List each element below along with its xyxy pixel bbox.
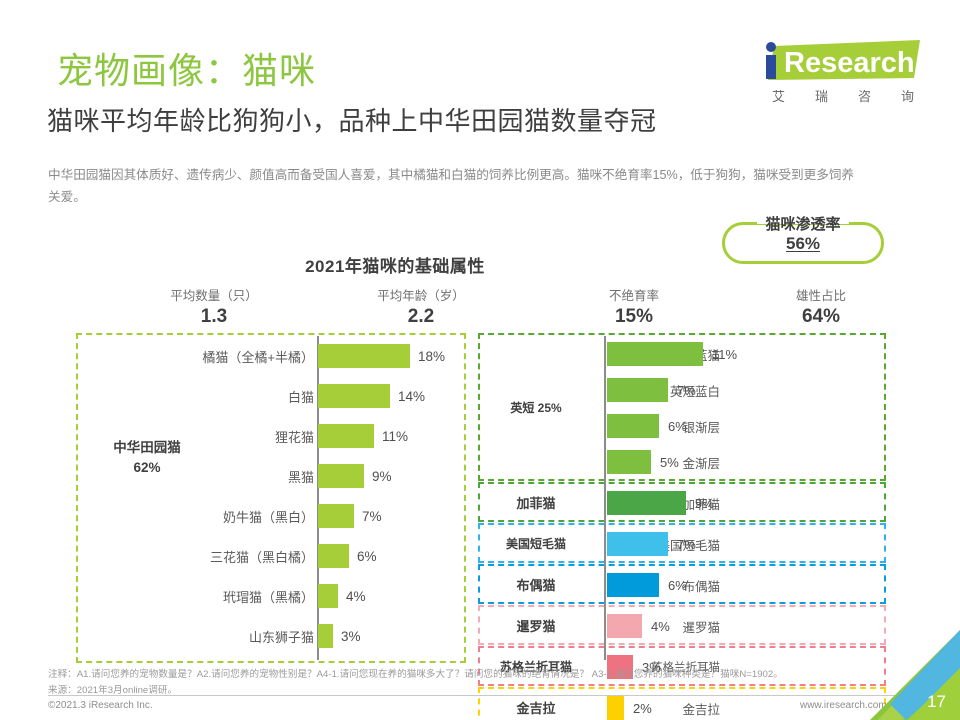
left-bar-label: 橘猫（全橘+半橘） (78, 336, 314, 376)
right-bar-value: 11% (712, 336, 737, 372)
right-group: 暹罗猫暹罗猫4% (478, 605, 886, 645)
right-bar-row: 暹罗猫4% (480, 608, 888, 644)
right-group: 美国短毛猫美国短毛猫7% (478, 523, 886, 563)
right-chart-panel: 英短 25%英短蓝猫11%英短蓝白7%银渐层6%金渐层5%加菲猫加菲猫9%美国短… (478, 333, 886, 663)
right-bar-value: 7% (677, 526, 696, 562)
left-bar-row: 玳瑁猫（黑橘）4% (78, 576, 466, 616)
footer-divider (48, 695, 913, 696)
left-bar-value: 9% (372, 456, 392, 496)
left-bar-label: 三花猫（黑白橘） (78, 536, 314, 576)
right-bar (607, 342, 703, 366)
right-bar-row: 美国短毛猫7% (480, 526, 888, 562)
left-bar-row: 奶牛猫（黑白）7% (78, 496, 466, 536)
logo-mark: Research (760, 36, 920, 84)
right-bar (607, 696, 624, 720)
right-bar (607, 414, 659, 438)
stats-row: 平均数量（只）1.3平均年龄（岁）2.2不绝育率15%雄性占比64% (78, 288, 908, 332)
logo-sub-char-1: 瑞 (815, 86, 828, 105)
right-group: 英短 25%英短蓝猫11%英短蓝白7%银渐层6%金渐层5% (478, 333, 886, 481)
stat-0: 平均数量（只）1.3 (124, 288, 304, 329)
right-bar (607, 532, 668, 556)
left-bar-row: 山东狮子猫3% (78, 616, 466, 656)
logo-sub-char-3: 询 (901, 86, 914, 105)
iresearch-logo: Research 艾 瑞 咨 询 (760, 36, 920, 112)
left-bar-value: 7% (362, 496, 382, 536)
left-bar (318, 624, 333, 648)
right-bar-row: 英短蓝白7% (480, 372, 888, 408)
footnote-line-1: 注释：A1.请问您养的宠物数量是？A2.请问您养的宠物性别是？A4-1.请问您现… (48, 667, 868, 683)
stat-label: 平均数量（只） (124, 288, 304, 305)
left-bar-value: 3% (341, 616, 361, 656)
left-bar (318, 504, 354, 528)
stat-value: 15% (544, 305, 724, 329)
stat-label: 不绝育率 (544, 288, 724, 305)
left-bar-value: 14% (398, 376, 425, 416)
page-subtitle: 猫咪平均年龄比狗狗小，品种上中华田园猫数量夺冠 (47, 105, 657, 138)
right-bar-value: 7% (677, 372, 696, 408)
stat-1: 平均年龄（岁）2.2 (331, 288, 511, 329)
right-group: 布偶猫布偶猫6% (478, 564, 886, 604)
svg-text:Research: Research (784, 47, 915, 79)
right-bar (607, 450, 651, 474)
left-bar-row: 三花猫（黑白橘）6% (78, 536, 466, 576)
right-bar-value: 6% (668, 567, 687, 603)
right-bar-value: 9% (695, 485, 714, 521)
right-bar (607, 573, 659, 597)
logo-svg: Research (760, 36, 920, 84)
left-bar-label: 黑猫 (78, 456, 314, 496)
left-bar-row: 白猫14% (78, 376, 466, 416)
right-bar-row: 加菲猫9% (480, 485, 888, 521)
stat-label: 平均年龄（岁） (331, 288, 511, 305)
right-bar (607, 491, 686, 515)
right-bar-row: 英短蓝猫11% (480, 336, 888, 372)
right-bar (607, 614, 642, 638)
right-bar (607, 378, 668, 402)
left-bar-row: 黑猫9% (78, 456, 466, 496)
logo-sub-char-0: 艾 (772, 86, 785, 105)
left-bar-value: 18% (418, 336, 445, 376)
copyright-text: ©2021.3 iResearch Inc. (48, 700, 153, 711)
penetration-badge-value: 56% (722, 234, 884, 254)
footnotes: 注释：A1.请问您养的宠物数量是？A2.请问您养的宠物性别是？A4-1.请问您现… (48, 667, 868, 698)
stat-value: 64% (731, 305, 911, 329)
right-bar-value: 6% (668, 408, 687, 444)
left-bar-value: 6% (357, 536, 377, 576)
right-chart-axis (604, 336, 606, 660)
chart-title: 2021年猫咪的基础属性 (0, 252, 790, 277)
left-bar-row: 狸花猫11% (78, 416, 466, 456)
left-bar (318, 424, 374, 448)
left-bar (318, 464, 364, 488)
left-bar (318, 544, 349, 568)
left-bar-value: 11% (382, 416, 408, 456)
right-bar-row: 布偶猫6% (480, 567, 888, 603)
left-bar-row: 橘猫（全橘+半橘）18% (78, 336, 466, 376)
right-bar-value: 5% (660, 444, 679, 480)
left-bar (318, 384, 390, 408)
left-bar-value: 4% (346, 576, 366, 616)
left-bar (318, 584, 338, 608)
left-bar (318, 344, 410, 368)
stat-value: 2.2 (331, 305, 511, 329)
page-title: 宠物画像：猫咪 (57, 50, 316, 91)
right-bar-value: 4% (651, 608, 670, 644)
logo-subtitle: 艾 瑞 咨 询 (772, 86, 914, 105)
slide-root: Research 艾 瑞 咨 询 宠物画像：猫咪 猫咪平均年龄比狗狗小，品种上中… (0, 0, 960, 720)
stat-2: 不绝育率15% (544, 288, 724, 329)
left-bar-label: 狸花猫 (78, 416, 314, 456)
stat-value: 1.3 (124, 305, 304, 329)
right-group: 加菲猫加菲猫9% (478, 482, 886, 522)
penetration-badge-label: 猫咪渗透率 (722, 213, 884, 234)
summary-paragraph: 中华田园猫因其体质好、遗传病少、颜值高而备受国人喜爱，其中橘猫和白猫的饲养比例更… (48, 165, 858, 208)
stat-3: 雄性占比64% (731, 288, 911, 329)
stat-label: 雄性占比 (731, 288, 911, 305)
right-bar-row: 银渐层6% (480, 408, 888, 444)
left-bar-label: 白猫 (78, 376, 314, 416)
left-bar-label: 山东狮子猫 (78, 616, 314, 656)
left-bar-label: 玳瑁猫（黑橘） (78, 576, 314, 616)
page-number: 17 (927, 692, 946, 712)
logo-sub-char-2: 咨 (858, 86, 871, 105)
left-bar-label: 奶牛猫（黑白） (78, 496, 314, 536)
right-bar-row: 金渐层5% (480, 444, 888, 480)
